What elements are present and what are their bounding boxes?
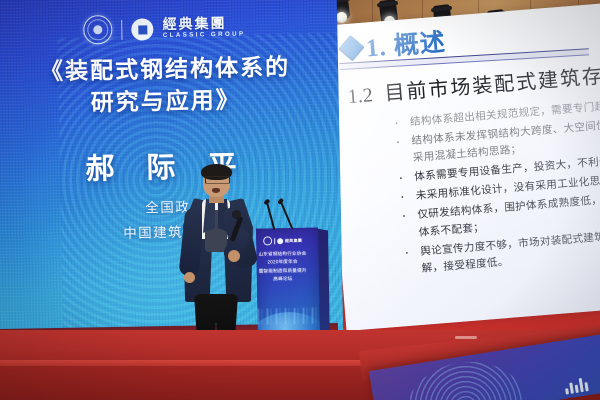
conference-stage-photo: 1. 概述 1.2目前市场装配式建筑存 结构体系超出相关规范规定，需要专门超限审…: [0, 0, 600, 400]
speaker-name: 郝 际 平: [0, 141, 340, 190]
speaker-person: [176, 166, 262, 352]
classic-group-c-mark-icon: [131, 18, 153, 40]
panel-bar-graphic: [564, 377, 589, 394]
podium-line-4: 高峰论坛: [257, 275, 309, 284]
podium-event-text: 山东省钢结构行业协会 2020年度年会 暨智能制造和质量提升 高峰论坛: [256, 250, 309, 285]
podium-brand-name: 經典集團: [285, 237, 302, 243]
subheading-number: 1.2: [347, 84, 374, 108]
presentation-title: 《装配式钢结构体系的 研究与应用》: [0, 51, 339, 121]
presentation-title-line2: 研究与应用》: [0, 82, 339, 120]
right-hand: [228, 250, 240, 262]
blue-diamond-icon: [338, 34, 365, 61]
podium-seal-icon: [263, 236, 272, 245]
circular-seal-icon: [83, 15, 113, 45]
podium-logo-row: 經典集團: [263, 236, 302, 246]
mouth: [212, 188, 220, 193]
presentation-title-line1: 《装配式钢结构体系的: [0, 51, 338, 89]
slide-bullet-list: 结构体系超出相关规范规定，需要专门超限审查； 结构体系未发挥钢结构大跨度、大空间…: [348, 94, 600, 285]
left-hand: [184, 272, 195, 283]
right-projection-screen: 1. 概述 1.2目前市场装配式建筑存 结构体系超出相关规范规定，需要专门超限审…: [322, 3, 600, 331]
brand-name-en: CLASSIC GROUP: [163, 32, 246, 40]
subheading-text: 目前市场装配式建筑存: [384, 66, 600, 106]
podium-c-mark-icon: [277, 238, 283, 244]
logo-divider: [121, 19, 123, 39]
eyeglasses-icon: [205, 176, 230, 184]
brand-name-cn: 經典集團: [162, 16, 245, 32]
brand-logo-bar: 經典集團 CLASSIC GROUP: [0, 11, 338, 47]
microphone-head-icon: [232, 210, 241, 219]
